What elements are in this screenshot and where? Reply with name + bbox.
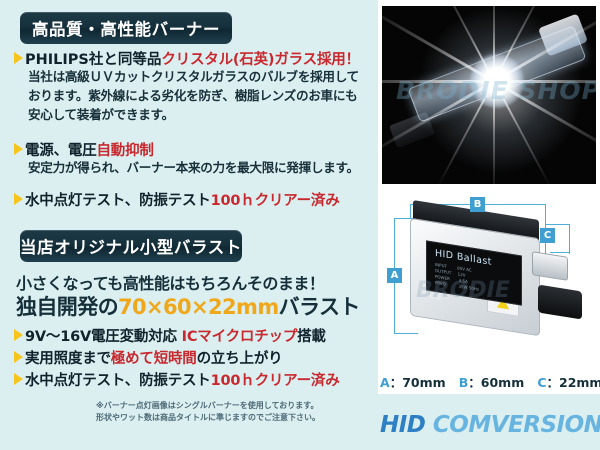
legend-value-b: 60mm [481, 375, 524, 390]
legend-key-b: B [459, 375, 469, 390]
dim-guide-c-top [546, 224, 570, 225]
dim-guide-c-bottom [550, 252, 570, 253]
ballast-feature-1-plain-1: 9V～16V電圧変動対応 [25, 329, 182, 345]
footer-disclaimer-line-1: ※バーナー点灯画像はシングルバーナーを使用しております。 [96, 400, 320, 412]
brand-banner-rest: COMVERSION KIT [433, 412, 600, 438]
bulb-photo-watermark: BRODIE SHOP [396, 76, 586, 105]
burner-feature-1-body-line-1: 当社は高級ＵＶカットクリスタルガラスのバルブを採用して [28, 68, 359, 87]
ballast-intro-plain-1: 独自開発の [16, 295, 118, 319]
dim-guide-c-axis [569, 224, 570, 254]
ballast-feature-3: 水中点灯テスト、防振テスト100ｈクリアー済み [14, 369, 340, 390]
ballast-feature-1-plain-2: 搭載 [297, 329, 326, 345]
dimension-marker-c: C [540, 228, 555, 243]
burner-feature-2-headline-plain-1: 電源、電圧 [25, 143, 97, 159]
triangle-bullet-icon [14, 143, 23, 155]
ballast-intro-plain-2: バラスト [279, 295, 360, 319]
triangle-bullet-icon [14, 351, 23, 363]
brand-banner: HID COMVERSION KIT [380, 412, 586, 438]
hid-burner-photo: BRODIE SHOP [382, 6, 596, 184]
legend-key-c: C [537, 375, 546, 390]
ballast-intro-line-2: 独自開発の70×60×22mmバラスト [16, 291, 360, 321]
burner-feature-2-headline-red: 自動抑制 [97, 143, 154, 159]
right-image-column: BRODIE SHOP HID Ballast INPUT [378, 0, 600, 394]
burner-feature-2-body-line-1: 安定力が得られ、バーナー本来の力を最大限に発揮します。 [28, 159, 359, 178]
dim-guide-b-left [410, 204, 411, 218]
ballast-feature-2-plain-1: 実用照度まで [25, 351, 111, 367]
burner-feature-1-headline-plain-1: PHILIPS社と同等品 [25, 52, 161, 68]
product-advertisement-page: 高品質・高性能バーナー PHILIPS社と同等品クリスタル(石英)ガラス採用！ … [0, 0, 600, 450]
ballast-feature-2-red: 極めて短時間 [111, 351, 197, 367]
ballast-feature-2-plain-2: の立ち上がり [197, 351, 283, 367]
ballast-dimension-diagram: HID Ballast INPUT 85V AC OUTPUT 12V POWE… [380, 192, 598, 368]
left-text-column: 高品質・高性能バーナー PHILIPS社と同等品クリスタル(石英)ガラス採用！ … [0, 0, 378, 394]
brand-banner-hid: HID [380, 412, 425, 438]
legend-key-a: A [380, 375, 390, 390]
dimension-marker-a: A [387, 268, 402, 283]
dimension-marker-b: B [470, 197, 485, 212]
triangle-bullet-icon [14, 373, 23, 385]
burner-feature-1-body-line-2: おります。紫外線による劣化を防ぎ、樹脂レンズのお車にも [28, 87, 357, 106]
triangle-bullet-icon [14, 193, 23, 205]
burner-feature-1-headline: PHILIPS社と同等品クリスタル(石英)ガラス採用！ [14, 48, 360, 69]
triangle-bullet-icon [14, 329, 23, 341]
section-badge-ballast: 当店オリジナル小型バラスト [20, 230, 242, 262]
footer-disclaimer: ※バーナー点灯画像はシングルバーナーを使用しております。 形状やワット数は商品タ… [96, 400, 320, 425]
burner-feature-3-headline: 水中点灯テスト、防振テスト100ｈクリアー済み [14, 189, 340, 210]
dimension-legend: A：70mm B：60mm C：22mm [380, 372, 598, 391]
burner-feature-3-headline-plain-1: 水中点灯テスト、防振テスト [25, 193, 211, 209]
dim-guide-a-bottom [394, 333, 418, 334]
section-badge-burner: 高品質・高性能バーナー [20, 12, 232, 44]
burner-feature-2-headline: 電源、電圧自動抑制 [14, 139, 154, 160]
burner-feature-3-headline-red: 100ｈクリアー済み [211, 193, 340, 209]
ballast-feature-3-plain-1: 水中点灯テスト、防振テスト [25, 373, 211, 389]
footer-disclaimer-line-2: 形状やワット数は商品タイトルに準じますのでご注意下さい。 [96, 412, 320, 424]
ballast-connector-plug [538, 285, 582, 320]
ballast-feature-1: 9V～16V電圧変動対応 ICマイクロチップ搭載 [14, 325, 326, 346]
legend-value-c: 22mm [559, 375, 600, 390]
ballast-feature-2: 実用照度まで極めて短時間の立ち上がり [14, 347, 282, 368]
burner-feature-1-headline-red: クリスタル(石英)ガラス採用！ [161, 52, 359, 68]
legend-value-a: 70mm [402, 375, 445, 390]
ballast-photo-watermark: BRODIE [416, 278, 510, 303]
triangle-bullet-icon [14, 52, 23, 64]
ballast-feature-1-red: ICマイクロチップ [182, 329, 297, 345]
burner-feature-1-body-line-3: 安心して装着ができます。 [28, 106, 174, 125]
ballast-dimension-text: 70×60×22mm [118, 295, 279, 319]
ballast-feature-3-red: 100ｈクリアー済み [211, 373, 340, 389]
